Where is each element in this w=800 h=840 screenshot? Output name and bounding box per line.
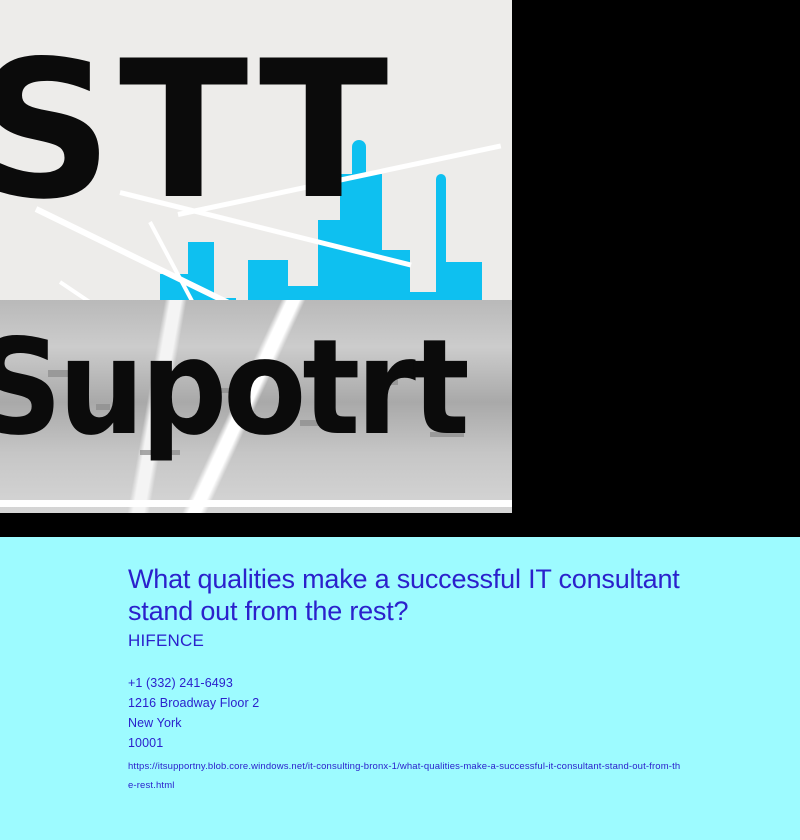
contact-block: +1 (332) 241-6493 1216 Broadway Floor 2 … [128,673,728,753]
page-title: What qualities make a successful IT cons… [128,563,688,627]
page-url-link[interactable]: https://itsupportny.blob.core.windows.ne… [128,757,684,795]
contact-city: New York [128,713,728,733]
contact-street: 1216 Broadway Floor 2 [128,693,728,713]
brand-name: HIFENCE [128,631,204,651]
cover-word-bottom: Supotrt [0,322,466,454]
cover-word-top: STT [0,36,394,226]
contact-phone[interactable]: +1 (332) 241-6493 [128,673,728,693]
hero-band: STT Supotrt [0,0,800,537]
content-panel: What qualities make a successful IT cons… [0,537,800,840]
cover-image: STT Supotrt [0,0,512,513]
contact-postal-code: 10001 [128,733,728,753]
